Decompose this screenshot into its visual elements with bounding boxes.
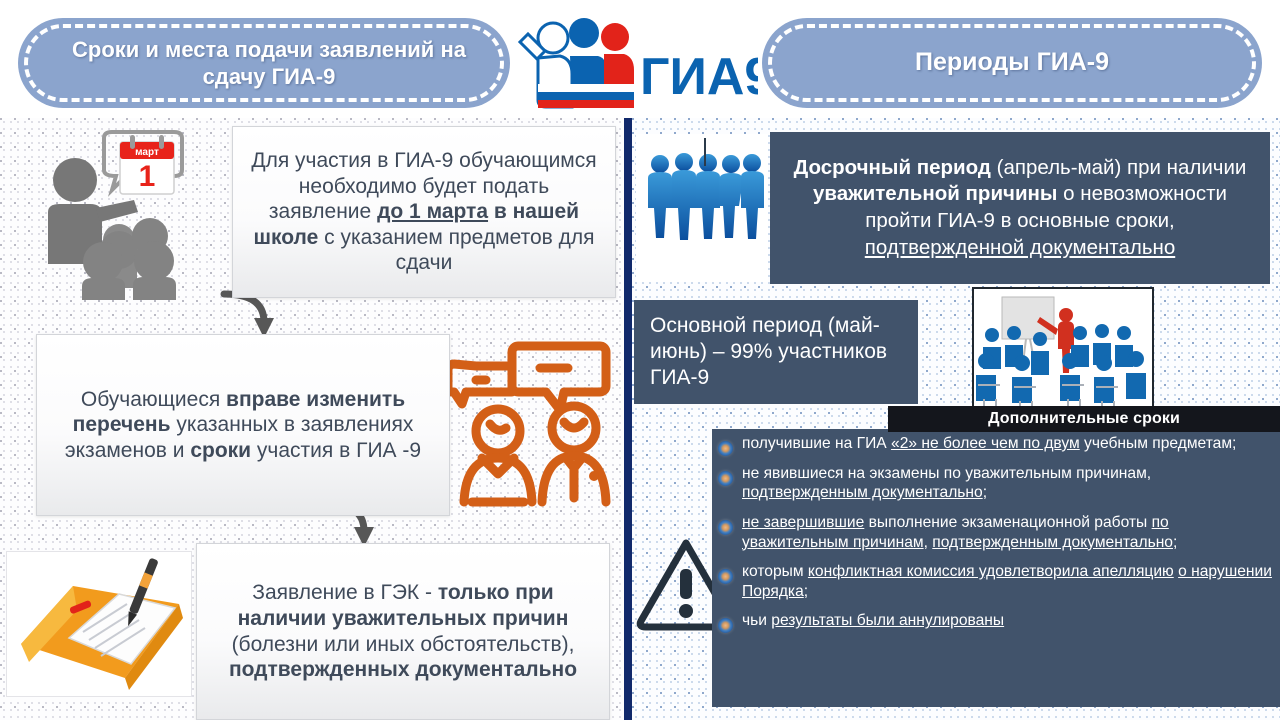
bullet-icon [718,618,733,633]
additional-terms-list: получившие на ГИА «2» не более чем по дв… [712,434,1280,641]
application-deadline-card: Для участия в ГИА-9 обучающимся необходи… [232,126,616,298]
people-discussion-icon [446,336,624,514]
calendar-month-label: март [135,147,159,158]
right-header-banner: Периоды ГИА-9 [762,18,1262,108]
list-item-label: получившие на ГИА «2» не более чем по дв… [742,434,1236,454]
gia9-logo-graphic: ГИА9 [512,12,758,112]
gek-application-card: Заявление в ГЭК - только при наличии ува… [196,543,610,720]
classroom-lesson-icon [972,287,1154,411]
additional-terms-title: Дополнительные сроки [888,406,1280,432]
infographic-slide: Сроки и места подачи заявлений на сдачу … [0,0,1280,720]
list-item: чьи результаты были аннулированы [712,611,1280,641]
main-period-box: Основной период (май-июнь) – 99% участни… [634,300,918,404]
gia9-logo: ГИА9 [512,10,760,114]
bullet-icon [718,471,733,486]
bullet-icon [718,520,733,535]
right-header-title: Периоды ГИА-9 [915,47,1109,78]
left-header-banner: Сроки и места подачи заявлений на сдачу … [18,18,510,108]
early-period-text: Досрочный период (апрель-май) при наличи… [770,151,1270,266]
list-item: которым конфликтная комиссия удовлетвори… [712,562,1280,611]
main-period-text: Основной период (май-июнь) – 99% участни… [634,307,918,397]
svg-text:ГИА9: ГИА9 [640,48,758,106]
list-item: получившие на ГИА «2» не более чем по дв… [712,434,1280,464]
bullet-icon [718,569,733,584]
list-item: не завершившие выполнение экзаменационно… [712,513,1280,562]
list-item-label: не явившиеся на экзамены по уважительным… [742,464,1274,503]
application-form-icon [6,551,192,697]
bullet-icon [718,441,733,456]
early-period-box: Досрочный период (апрель-май) при наличи… [770,132,1270,284]
application-deadline-text: Для участия в ГИА-9 обучающимся необходи… [233,142,615,282]
change-subject-list-text: Обучающиеся вправе изменить перечень ука… [37,381,449,470]
calendar-icon: март 1 [118,134,176,196]
list-item-label: не завершившие выполнение экзаменационно… [742,513,1274,552]
left-header-title: Сроки и места подачи заявлений на сдачу … [18,36,510,91]
list-item-label: чьи результаты были аннулированы [742,611,1004,631]
list-item: не явившиеся на экзамены по уважительным… [712,464,1280,513]
calendar-day-label: 1 [139,160,156,193]
group-of-people-icon [636,134,768,282]
gek-application-text: Заявление в ГЭК - только при наличии ува… [197,574,609,688]
list-item-label: которым конфликтная комиссия удовлетвори… [742,562,1274,601]
change-subject-list-card: Обучающиеся вправе изменить перечень ука… [36,334,450,516]
panel-divider [624,118,632,720]
